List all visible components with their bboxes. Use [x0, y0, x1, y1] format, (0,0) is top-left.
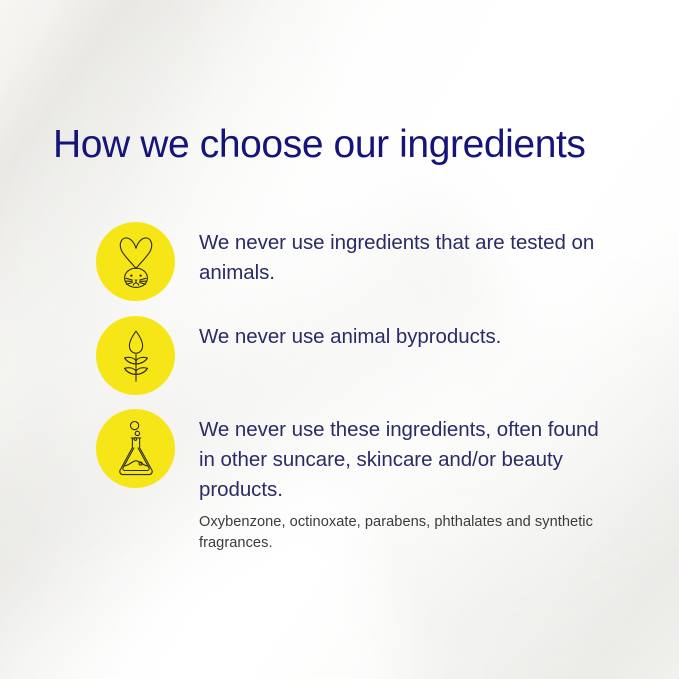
bunny-heart-ears-icon [96, 222, 175, 301]
claim-text: We never use animal byproducts. [199, 322, 599, 352]
claim-text-wrap: We never use these ingredients, often fo… [199, 409, 609, 554]
claim-text-wrap: We never use ingredients that are tested… [199, 222, 599, 288]
plant-leaf-sprig-icon [96, 316, 175, 395]
claim-subtext: Oxybenzone, octinoxate, parabens, phthal… [199, 512, 609, 554]
claim-text: We never use ingredients that are tested… [199, 228, 599, 288]
erlenmeyer-flask-icon [96, 409, 175, 488]
claim-item: We never use these ingredients, often fo… [96, 409, 609, 554]
ingredient-policy-panel: How we choose our ingredients [0, 0, 679, 679]
claim-text-wrap: We never use animal byproducts. [199, 316, 599, 352]
claim-item: We never use ingredients that are tested… [96, 222, 599, 301]
claim-text: We never use these ingredients, often fo… [199, 415, 609, 505]
page-title: How we choose our ingredients [53, 123, 586, 167]
claim-item: We never use animal byproducts. [96, 316, 599, 395]
